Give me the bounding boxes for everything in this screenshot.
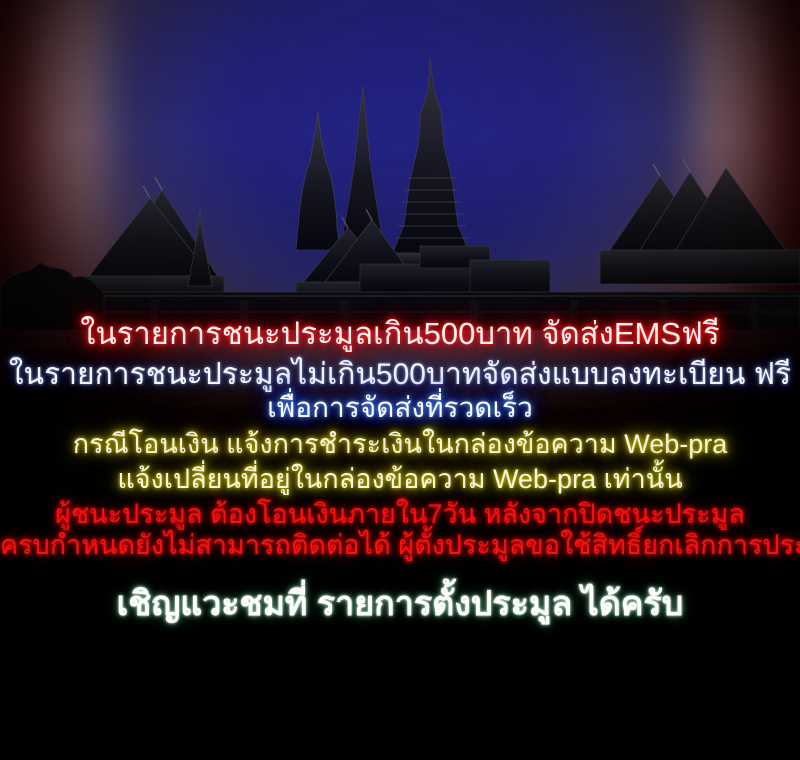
auction-terms-banner: ในรายการชนะประมูลเกิน500บาท จัดส่งEMSฟรี… [0,0,800,760]
transfer-within-7-days-line: ผู้ชนะประมูล ต้องโอนเงินภายใน7วัน หลังจา… [0,500,800,529]
shipping-registered-free-line: ในรายการชนะประมูลไม่เกิน500บาทจัดส่งแบบล… [0,359,800,391]
terms-text-block: ในรายการชนะประมูลเกิน500บาท จัดส่งEMSฟรี… [0,318,800,622]
shipping-ems-free-line: ในรายการชนะประมูลเกิน500บาท จัดส่งEMSฟรี [0,318,800,351]
payment-notify-line: กรณีโอนเงิน แจ้งการชำระเงินในกล่องข้อควา… [0,430,800,459]
cancel-auction-rights-line: ครบกำหนดยังไม่สามารถติดต่อได้ ผู้ตั้งประ… [0,531,800,560]
address-change-line: แจ้งเปลี่ยนที่อยู่ในกล่องข้อความ Web-pra… [0,465,800,494]
fast-shipping-line: เพื่อการจัดส่งที่รวดเร็ว [0,393,800,423]
visit-auction-listing-line: เชิญแวะชมที่ รายการตั้งประมูล ได้ครับ [0,586,800,622]
